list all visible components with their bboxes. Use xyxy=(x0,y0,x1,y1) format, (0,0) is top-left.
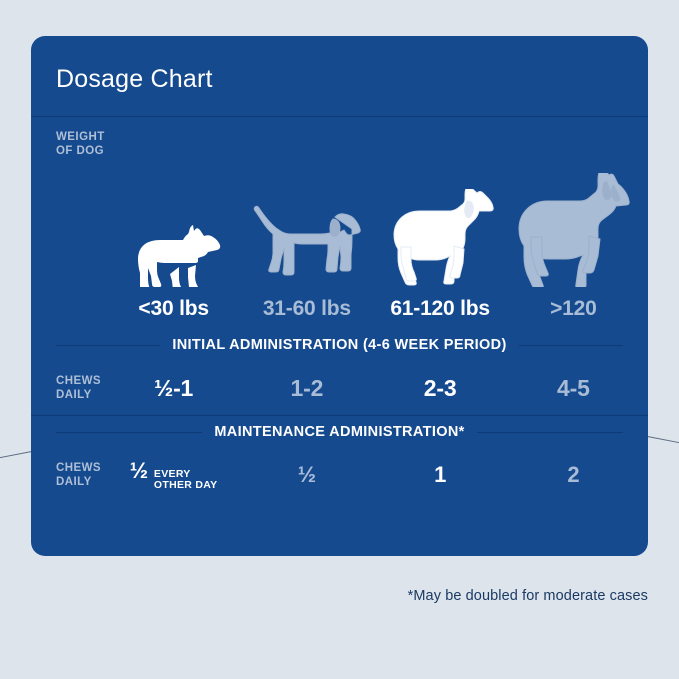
initial-administration-header: INITIAL ADMINISTRATION (4-6 WEEK PERIOD) xyxy=(31,329,648,361)
small-dog-icon xyxy=(124,169,224,287)
medium-dog-icon xyxy=(251,169,363,287)
header-rule-left xyxy=(56,345,160,346)
dog-size-columns: <30 lbs 31-60 lbs xyxy=(107,117,640,329)
maintenance-dose-medium: ½ xyxy=(240,462,373,488)
initial-dose-cells: ½-1 1-2 2-3 4-5 xyxy=(107,361,640,415)
weight-value-medium: 31-60 lbs xyxy=(263,297,351,321)
maintenance-note-line-2: OTHER DAY xyxy=(154,479,218,491)
weight-of-dog-section: WEIGHT OF DOG <30 lbs xyxy=(31,117,648,329)
maintenance-administration-title: MAINTENANCE ADMINISTRATION* xyxy=(214,424,464,440)
initial-dose-small: ½-1 xyxy=(107,375,240,402)
page-title: Dosage Chart xyxy=(31,36,648,94)
maintenance-rule-right xyxy=(477,432,623,433)
footnote-text: *May be doubled for moderate cases xyxy=(408,588,648,604)
initial-administration-row: CHEWS DAILY ½-1 1-2 2-3 4-5 xyxy=(31,361,648,415)
weight-column-large: 61-120 lbs xyxy=(374,117,507,329)
maintenance-dose-small-value: ½ xyxy=(130,458,148,484)
weight-value-large: 61-120 lbs xyxy=(390,297,490,321)
maintenance-dose-small: ½ EVERY OTHER DAY xyxy=(107,458,240,493)
maintenance-dose-large: 1 xyxy=(374,462,507,488)
weight-column-giant: >120 xyxy=(507,117,640,329)
maintenance-dose-giant: 2 xyxy=(507,462,640,488)
maintenance-dose-cells: ½ EVERY OTHER DAY ½ 1 2 xyxy=(107,448,640,502)
weight-column-medium: 31-60 lbs xyxy=(240,117,373,329)
dosage-chart-panel: Dosage Chart WEIGHT OF DOG <30 lbs xyxy=(31,36,648,556)
maintenance-rule-left xyxy=(56,432,202,433)
initial-administration-title: INITIAL ADMINISTRATION (4-6 WEEK PERIOD) xyxy=(172,337,506,353)
weight-value-small: <30 lbs xyxy=(138,297,208,321)
weight-column-small: <30 lbs xyxy=(107,117,240,329)
maintenance-administration-row: CHEWS DAILY ½ EVERY OTHER DAY ½ 1 2 xyxy=(31,448,648,502)
giant-dog-icon xyxy=(511,169,635,287)
maintenance-note-line-1: EVERY xyxy=(154,468,191,480)
maintenance-dose-small-note: EVERY OTHER DAY xyxy=(154,469,218,492)
large-dog-icon xyxy=(382,169,498,287)
initial-dose-medium: 1-2 xyxy=(240,375,373,402)
initial-dose-giant: 4-5 xyxy=(507,375,640,402)
maintenance-administration-header: MAINTENANCE ADMINISTRATION* xyxy=(31,416,648,448)
weight-value-giant: >120 xyxy=(550,297,597,321)
initial-dose-large: 2-3 xyxy=(374,375,507,402)
header-rule-right xyxy=(519,345,623,346)
